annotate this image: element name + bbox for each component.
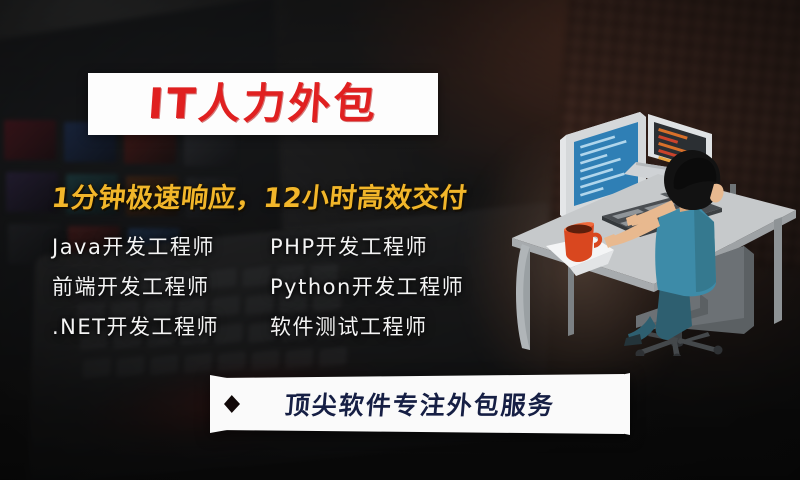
service-row: Java开发工程师 PHP开发工程师: [52, 226, 482, 266]
promo-banner: IT人力外包 1分钟极速响应，12小时高效交付 Java开发工程师 PHP开发工…: [0, 0, 800, 480]
title-banner: IT人力外包: [88, 73, 438, 135]
developer-illustration-icon: [508, 88, 800, 356]
service-item-frontend: 前端开发工程师: [52, 271, 270, 301]
service-row: .NET开发工程师 软件测试工程师: [52, 306, 482, 346]
service-list: Java开发工程师 PHP开发工程师 前端开发工程师 Python开发工程师 .…: [52, 226, 482, 346]
service-item-dotnet: .NET开发工程师: [52, 311, 270, 341]
service-item-python: Python开发工程师: [270, 271, 464, 301]
service-item-php: PHP开发工程师: [270, 231, 428, 261]
service-item-qa: 软件测试工程师: [270, 311, 428, 341]
service-row: 前端开发工程师 Python开发工程师: [52, 266, 482, 306]
subtitle-tagline: 1分钟极速响应，12小时高效交付: [50, 176, 469, 215]
page-title: IT人力外包: [146, 83, 379, 125]
footer-ribbon-text: 顶尖软件专注外包服务: [207, 372, 633, 436]
footer-ribbon: 顶尖软件专注外包服务: [210, 372, 630, 436]
developer-at-desk-illustration: [508, 88, 800, 356]
service-item-java: Java开发工程师: [52, 231, 270, 261]
